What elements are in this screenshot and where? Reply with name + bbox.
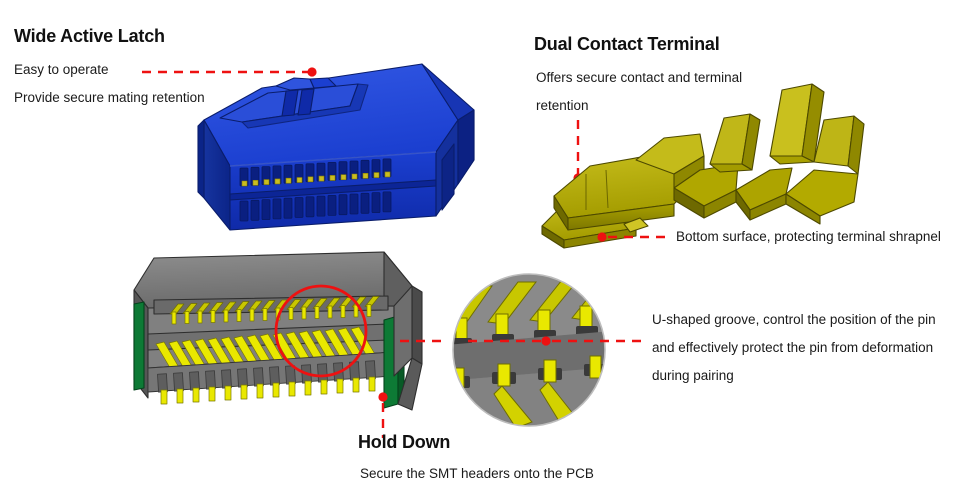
dual-contact-terminal-title: Dual Contact Terminal	[534, 34, 720, 55]
u-groove-desc-line-2: and effectively protect the pin from def…	[652, 340, 933, 355]
bottom-surface-leader-line	[596, 226, 674, 248]
u-groove-leader-line	[398, 330, 650, 352]
hold-down-description: Secure the SMT headers onto the PCB	[360, 466, 594, 481]
wide-active-latch-title: Wide Active Latch	[14, 26, 165, 47]
u-groove-desc-line-3: during pairing	[652, 368, 734, 383]
blue-connector-housing-illustration	[190, 48, 480, 248]
hold-down-title: Hold Down	[358, 432, 450, 453]
product-feature-diagram: Wide Active Latch Easy to operate Provid…	[0, 0, 964, 500]
wide-active-latch-bullet-2: Provide secure mating retention	[14, 90, 205, 105]
bottom-surface-callout-label: Bottom surface, protecting terminal shra…	[676, 229, 941, 244]
wide-active-latch-bullet-1: Easy to operate	[14, 62, 109, 77]
u-groove-desc-line-1: U-shaped groove, control the position of…	[652, 312, 936, 327]
